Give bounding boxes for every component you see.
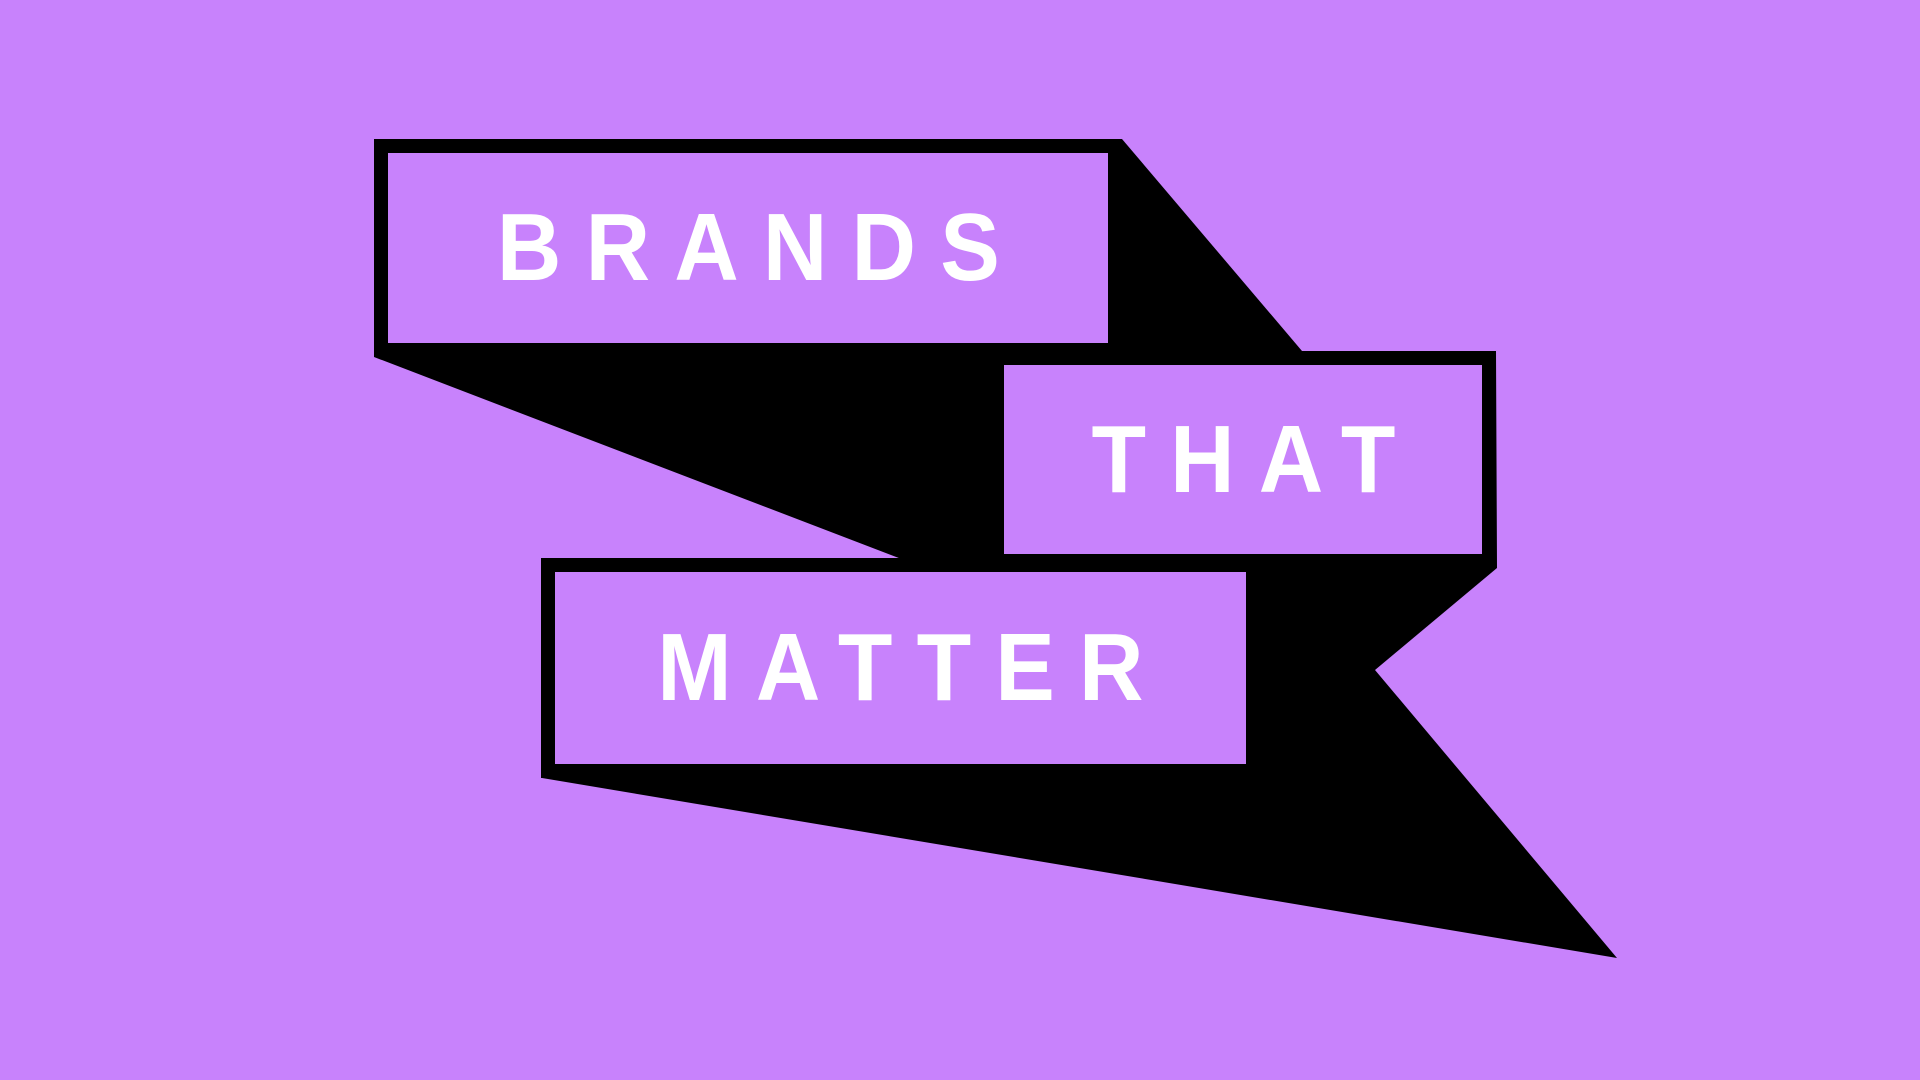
brands-word: BRANDS: [472, 200, 1023, 296]
that-banner: THAT: [990, 351, 1496, 568]
that-word: THAT: [1067, 412, 1419, 508]
matter-banner: MATTER: [541, 558, 1260, 778]
brands-banner: BRANDS: [374, 139, 1122, 357]
poster-canvas: BRANDS THAT MATTER: [0, 0, 1920, 1080]
matter-word: MATTER: [633, 620, 1168, 716]
